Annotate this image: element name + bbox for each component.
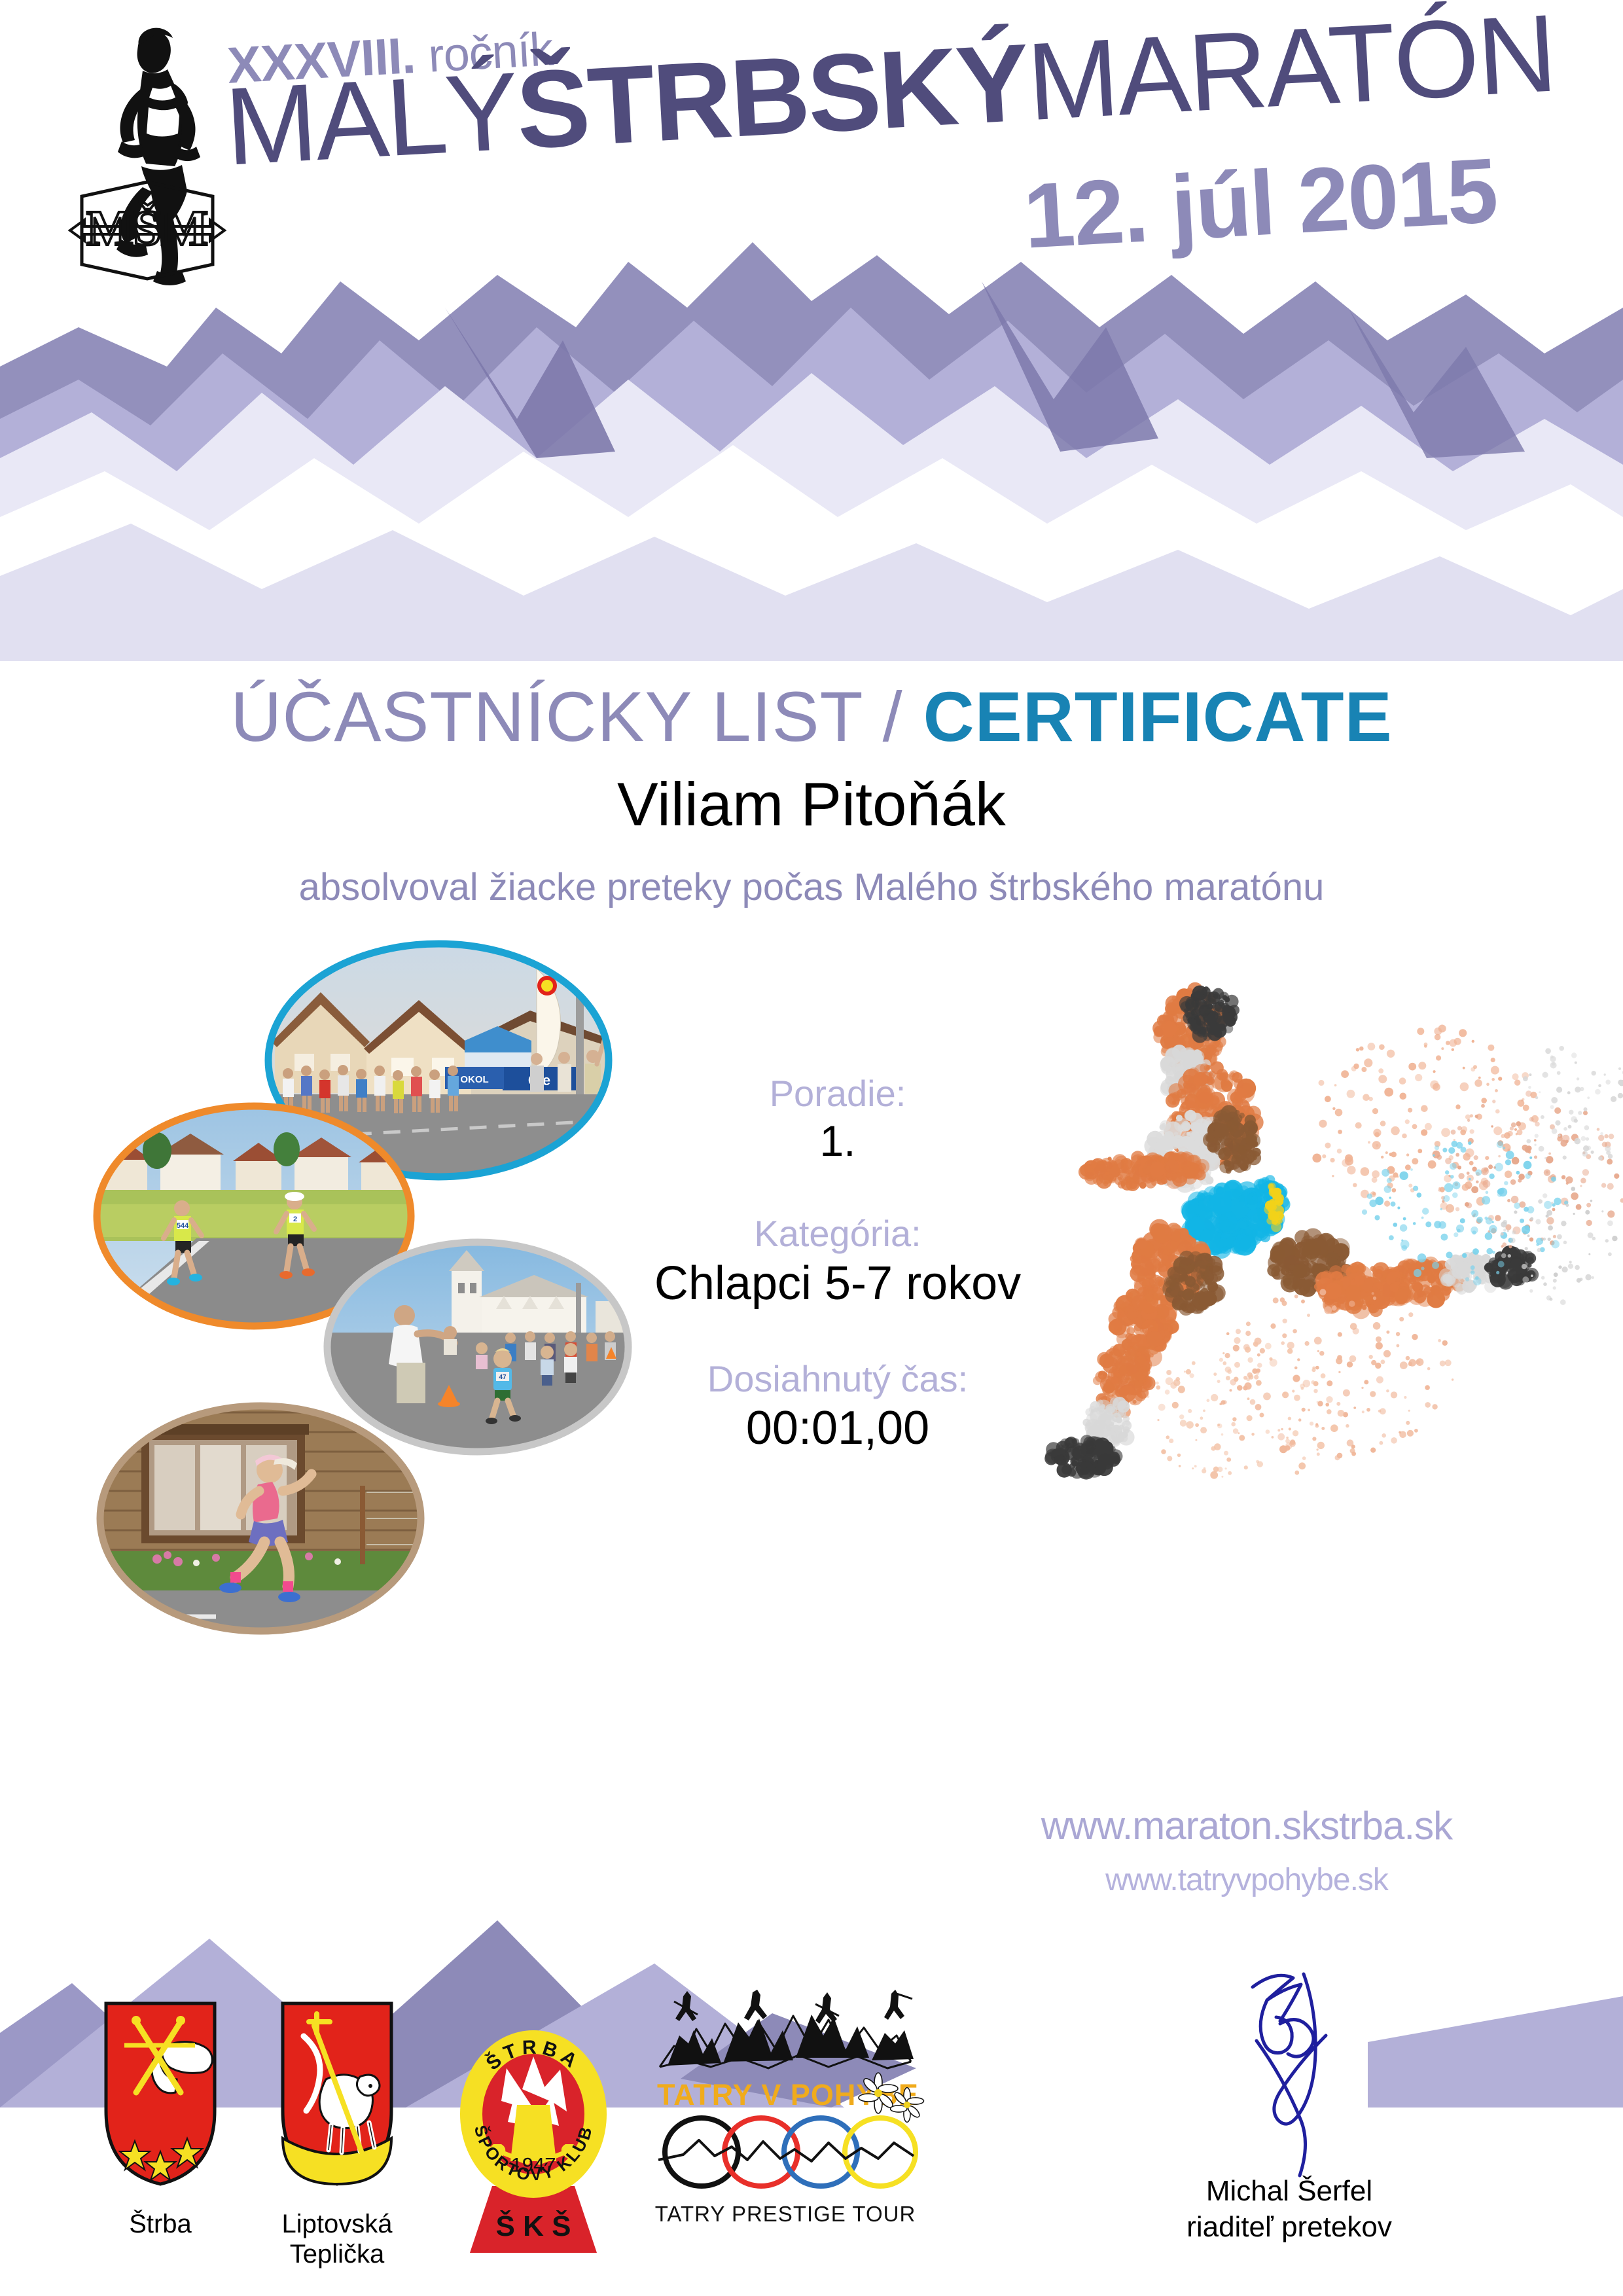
director-signature [1171, 1970, 1446, 2193]
tatry-prestige-tour-logo: TATRY PRESTIGE TOUR [654, 2109, 916, 2233]
certificate-title-en: CERTIFICATE [923, 677, 1393, 756]
certificate-subtitle: absolvoval žiacke preteky počas Malého š… [0, 865, 1623, 909]
svg-text:47: 47 [499, 1374, 507, 1381]
msm-logo-text: MŠM [86, 201, 208, 256]
tatry-prestige-tour-caption: TATRY PRESTIGE TOUR [655, 2202, 916, 2226]
signature-block: Michal Šerfel riaditeľ pretekov [1106, 2173, 1472, 2245]
participant-name: Viliam Pitoňák [0, 769, 1623, 840]
sks-bottom-text: Š K Š [496, 2209, 571, 2242]
msm-runner-logo: MŠM [59, 20, 236, 281]
photo-woman-runner [98, 1401, 425, 1636]
director-name: Michal Šerfel [1106, 2173, 1472, 2209]
certificate-title-sk: ÚČASTNÍCKY LIST [230, 677, 862, 756]
tatry-v-pohybe-logo: TATRY V POHYBE [648, 1990, 923, 2121]
director-role: riaditeľ pretekov [1106, 2209, 1472, 2245]
certificate-title-separator: / [883, 677, 903, 756]
certificate-title: ÚČASTNÍCKY LIST / CERTIFICATE [0, 675, 1623, 757]
title-word-maly: MALÝ [222, 49, 520, 188]
particle-runner [969, 956, 1610, 1780]
crest-strba-caption: Štrba [85, 2209, 236, 2239]
header-band: MŠM XXXVIII. ročník MALÝŠTRBSKÝMARATÓN 1… [0, 0, 1623, 661]
photo-collage: Cie OKOL [79, 942, 694, 1833]
crest-strba [98, 2000, 223, 2189]
url-primary[interactable]: www.maraton.skstrba.sk [916, 1803, 1577, 1848]
footer-logos: Štrba Liptovská Teplička [0, 1964, 1623, 2296]
svg-text:2: 2 [293, 1215, 297, 1223]
certificate-page: MŠM XXXVIII. ročník MALÝŠTRBSKÝMARATÓN 1… [0, 0, 1623, 2296]
crest-liptovska-teplicka [275, 2000, 399, 2189]
photo-kids-race: 47 [327, 1242, 630, 1454]
svg-text:OKOL: OKOL [460, 1074, 488, 1085]
svg-text:544: 544 [177, 1222, 189, 1230]
crest-liptovska-teplicka-caption: Liptovská Teplička [249, 2209, 425, 2269]
sks-strba-logo: 1947 ŠTRBA ŠPORTOVÝ KLUB Š K Š [452, 1996, 615, 2258]
